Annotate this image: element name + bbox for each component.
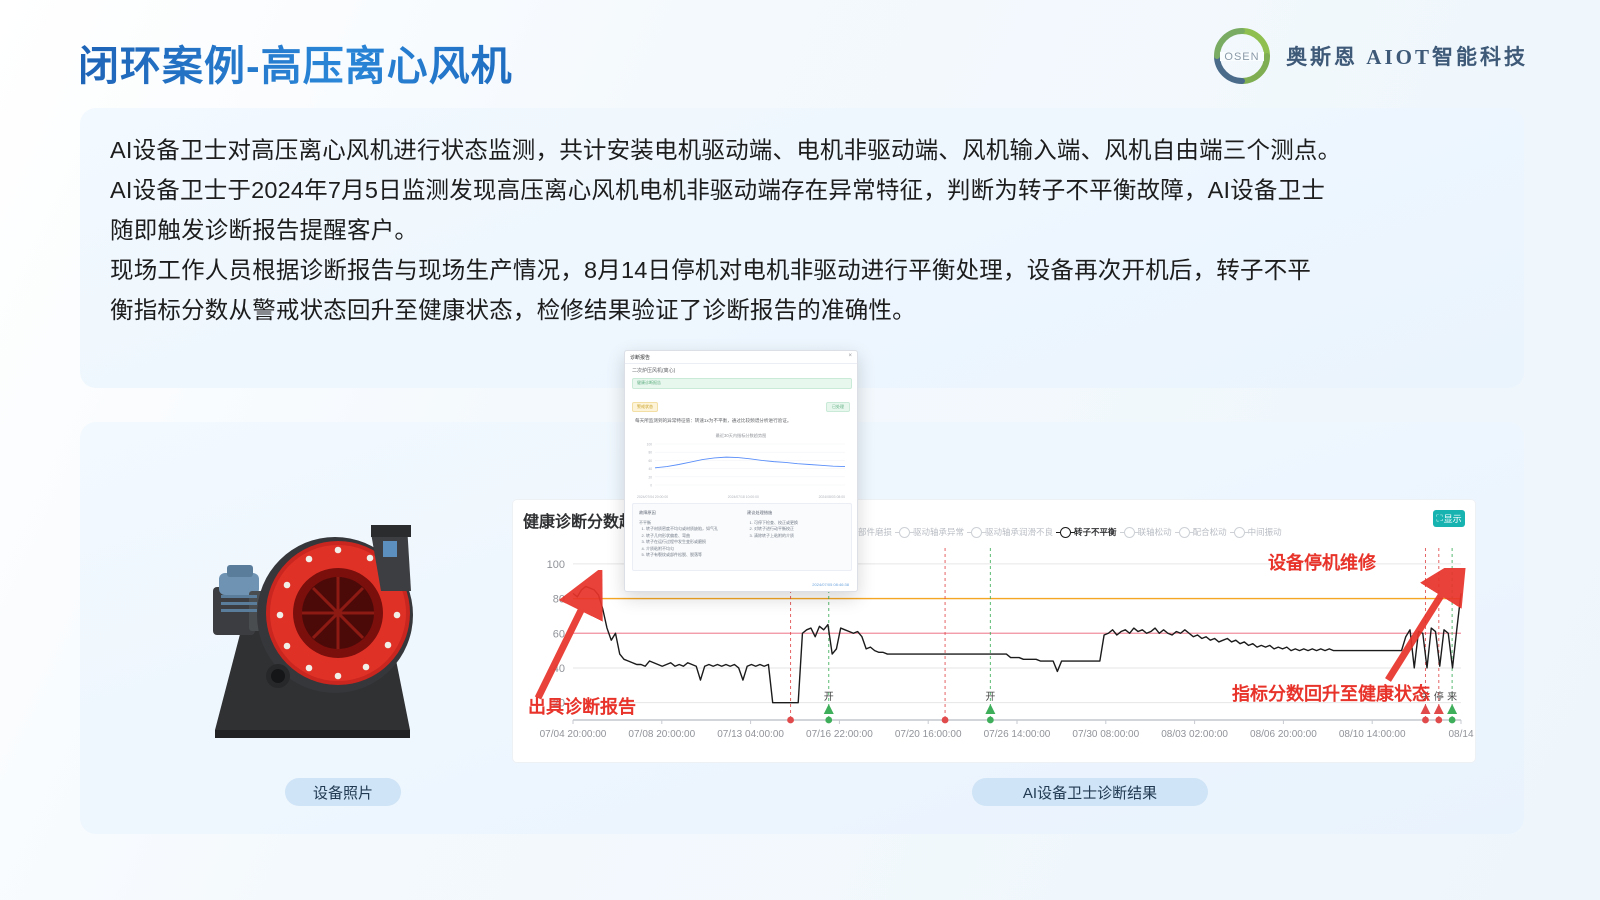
slide-header: 闭环案例-高压离心风机 OSEN 奥斯恩 AIOT智能科技 <box>0 0 1600 104</box>
legend-marker-icon <box>1060 527 1071 538</box>
legend-marker-icon <box>1179 527 1190 538</box>
event-marker-dot <box>942 717 949 724</box>
event-marker-dot <box>1422 717 1429 724</box>
legend-marker-icon <box>1124 527 1135 538</box>
popup-titlebar: 诊断报告 × <box>625 351 857 364</box>
event-marker-triangle <box>985 704 995 714</box>
brand-logo: OSEN 奥斯恩 AIOT智能科技 <box>1212 26 1528 86</box>
paragraph-5: 衡指标分数从警戒状态回升至健康状态，检修结果验证了诊断报告的准确性。 <box>110 290 1500 330</box>
event-marker-dot <box>1449 717 1456 724</box>
legend-marker-icon <box>1234 527 1245 538</box>
popup-banner-text: 健康诊断报告 <box>637 380 661 386</box>
axis-label-mid: 2024/07/18 10:00:00 <box>728 495 759 499</box>
popup-cause-column: 故障原因 不平衡 转子材质密度不均匀或材质缺陷，如气孔转子几何形状偏差、弯曲转子… <box>639 510 735 559</box>
close-icon[interactable]: × <box>848 353 852 359</box>
popup-axis-labels: 2024/07/04 20:00:00 2024/07/18 10:00:00 … <box>637 495 845 499</box>
legend-item-2[interactable]: 驱动轴承润滑不良 <box>971 526 1053 538</box>
x-axis-tick-label: 07/26 14:00:00 <box>984 729 1051 740</box>
event-marker-label: 开 <box>985 692 995 703</box>
svg-text:0: 0 <box>650 484 652 488</box>
x-axis-tick-label: 08/14 <box>1448 729 1473 740</box>
paragraph-2: AI设备卫士于2024年7月5日监测发现高压离心风机电机非驱动端存在异常特征，判… <box>110 170 1500 210</box>
action-column-title: 建议处理措施 <box>747 510 845 517</box>
list-item: 转子有裂纹或部件松脱、脱落等 <box>646 552 735 559</box>
x-axis-tick-label: 08/06 20:00:00 <box>1250 729 1317 740</box>
description-text: AI设备卫士对高压离心风机进行状态监测，共计安装电机驱动端、电机非驱动端、风机输… <box>110 130 1500 330</box>
popup-timestamp: 2024/07/05 08:46:38 <box>812 582 849 587</box>
legend-label: 转子不平衡 <box>1074 526 1117 538</box>
popup-chart-caption: 最近30天内指标分数趋势图 <box>625 433 857 439</box>
brand-name: 奥斯恩 AIOT智能科技 <box>1286 41 1528 71</box>
caption-photo: 设备照片 <box>285 778 401 806</box>
action-list: 可停下检查、校正或更换对转子进行动平衡校正清除转子上粘附的介质 <box>747 520 845 540</box>
legend-item-1[interactable]: 驱动轴承异常 <box>899 526 964 538</box>
event-marker-triangle <box>1434 704 1444 714</box>
x-axis-tick-label: 07/16 22:00:00 <box>806 729 873 740</box>
popup-action-column: 建议处理措施 可停下检查、校正或更换对转子进行动平衡校正清除转子上粘附的介质 <box>747 510 845 539</box>
svg-text:80: 80 <box>648 451 652 455</box>
popup-title: 诊断报告 <box>630 354 650 361</box>
event-marker-dot <box>1435 717 1442 724</box>
fullscreen-button[interactable]: ⛶ 显示 <box>1433 510 1465 527</box>
list-item: 清除转子上粘附的介质 <box>754 533 845 540</box>
x-axis-tick-label: 08/03 02:00:00 <box>1161 729 1228 740</box>
event-marker-dot <box>825 717 832 724</box>
event-marker-triangle <box>824 704 834 714</box>
x-axis-tick-label: 07/30 08:00:00 <box>1072 729 1139 740</box>
status-badge-handled: 已处理 <box>826 402 850 412</box>
slide-root: 闭环案例-高压离心风机 OSEN 奥斯恩 AIOT智能科技 AI设备卫士对高压离… <box>0 0 1600 900</box>
event-marker-label: 来 <box>1447 691 1457 703</box>
osen-ring-icon: OSEN <box>1212 26 1272 86</box>
paragraph-4: 现场工作人员根据诊断报告与现场生产情况，8月14日停机对电机非驱动进行平衡处理，… <box>110 250 1500 290</box>
caption-chart: AI设备卫士诊断结果 <box>972 778 1208 806</box>
popup-mini-chart: 100806040200 <box>633 441 849 493</box>
axis-label-start: 2024/07/04 20:00:00 <box>637 495 668 499</box>
event-marker-dot <box>987 717 994 724</box>
cause-column-title: 故障原因 <box>639 510 735 517</box>
description-card: AI设备卫士对高压离心风机进行状态监测，共计安装电机驱动端、电机非驱动端、风机输… <box>80 108 1524 388</box>
svg-text:20: 20 <box>648 475 652 479</box>
svg-text:60: 60 <box>648 459 652 463</box>
legend-label: 联轴松动 <box>1138 526 1172 538</box>
legend-item-4[interactable]: 联轴松动 <box>1124 526 1172 538</box>
x-axis-tick-label: 07/20 16:00:00 <box>895 729 962 740</box>
svg-text:100: 100 <box>647 443 653 447</box>
popup-detail-box: 故障原因 不平衡 转子材质密度不均匀或材质缺陷，如气孔转子几何形状偏差、弯曲转子… <box>632 503 852 571</box>
legend-label: 中间振动 <box>1248 526 1282 538</box>
fullscreen-label: 显示 <box>1444 512 1462 525</box>
annotation-arrow-shutdown <box>1380 568 1480 688</box>
popup-subtitle: 二次炉压风机(离心) <box>632 367 675 374</box>
paragraph-1: AI设备卫士对高压离心风机进行状态监测，共计安装电机驱动端、电机非驱动端、风机输… <box>110 130 1500 170</box>
svg-text:40: 40 <box>648 467 652 471</box>
legend-marker-icon <box>899 527 910 538</box>
popup-banner: 健康诊断报告 <box>632 378 852 389</box>
status-badge-warning: 警戒状态 <box>632 402 658 412</box>
annotation-score-recovered: 指标分数回升至健康状态 <box>1232 680 1430 706</box>
paragraph-3: 随即触发诊断报告提醒客户。 <box>110 210 1500 250</box>
legend-label: 驱动轴承异常 <box>913 526 964 538</box>
x-axis-tick-label: 07/04 20:00:00 <box>540 729 607 740</box>
legend-item-5[interactable]: 配合松动 <box>1179 526 1227 538</box>
chart-legend[interactable]: 部件磨损驱动轴承异常驱动轴承润滑不良转子不平衡联轴松动配合松动中间振动 <box>858 524 1468 540</box>
axis-label-end: 2024/08/03 08:00 <box>819 495 845 499</box>
popup-description: 每天所监测到的异常特征值：转速1x为不平衡，通过比较频谱分析进行验证。 <box>635 417 849 424</box>
x-axis-tick-label: 07/08 20:00:00 <box>628 729 695 740</box>
legend-marker-icon <box>971 527 982 538</box>
event-marker-label: 停 <box>1434 690 1444 703</box>
legend-item-3[interactable]: 转子不平衡 <box>1060 526 1117 538</box>
x-axis-tick-label: 08/10 14:00:00 <box>1339 729 1406 740</box>
legend-item-0[interactable]: 部件磨损 <box>858 526 892 538</box>
x-axis-tick-label: 07/13 04:00:00 <box>717 729 784 740</box>
annotation-shutdown-maintenance: 设备停机维修 <box>1268 549 1376 575</box>
event-marker-triangle <box>1447 704 1457 714</box>
cause-list: 转子材质密度不均匀或材质缺陷，如气孔转子几何形状偏差、弯曲转子在运行过程中发生变… <box>639 526 735 559</box>
legend-label: 驱动轴承润滑不良 <box>985 526 1053 538</box>
centrifugal-fan-photo <box>175 495 445 745</box>
fullscreen-icon: ⛶ <box>1436 513 1442 524</box>
legend-label: 部件磨损 <box>858 526 892 538</box>
legend-label: 配合松动 <box>1193 526 1227 538</box>
diagnosis-report-popup[interactable]: 诊断报告 × 二次炉压风机(离心) 健康诊断报告 警戒状态 已处理 每天所监测到… <box>624 350 858 592</box>
legend-item-6[interactable]: 中间振动 <box>1234 526 1282 538</box>
svg-text:OSEN: OSEN <box>1224 51 1259 63</box>
event-marker-dot <box>787 717 794 724</box>
popup-mini-series <box>655 457 845 468</box>
event-marker-label: 开 <box>824 692 834 703</box>
page-title: 闭环案例-高压离心风机 <box>78 32 513 92</box>
